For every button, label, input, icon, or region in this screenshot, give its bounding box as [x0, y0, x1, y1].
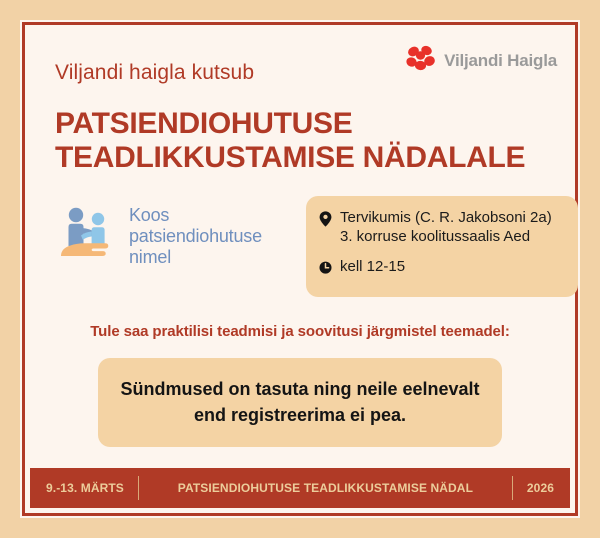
promo-lead-text: Tule saa praktilisi teadmisi ja soovitus…	[41, 323, 559, 340]
campaign-logo-line-2: patsiendiohutuse	[129, 226, 262, 247]
poster-info-band: Koos patsiendiohutuse nimel Tervikumis (…	[41, 196, 559, 297]
campaign-logo-line-3: nimel	[129, 247, 262, 268]
two-figures-on-hand-icon	[59, 204, 121, 269]
event-time: kell 12-15	[319, 258, 562, 282]
poster-title-line-2: TEADLIKKUSTAMISE NÄDALALE	[55, 141, 559, 175]
poster: Viljandi Haigla Viljandi haigla kutsub P…	[0, 0, 600, 538]
promo-note-line-2: end registreerima ei pea.	[118, 402, 482, 428]
poster-card: Viljandi Haigla Viljandi haigla kutsub P…	[22, 22, 578, 516]
promo-note-line-1: Sündmused on tasuta ning neile eelnevalt	[118, 376, 482, 402]
location-pin-icon	[319, 211, 333, 233]
flower-logo-icon	[405, 43, 437, 78]
event-location-line-2: 3. korruse koolitussaalis Aed	[340, 228, 552, 247]
footer-bar: 9.-13. MÄRTS PATSIENDIOHUTUSE TEADLIKKUS…	[30, 468, 570, 508]
campaign-logo: Koos patsiendiohutuse nimel	[41, 196, 262, 269]
footer-year: 2026	[527, 481, 554, 495]
footer-divider-right	[512, 476, 513, 500]
event-time-line-1: kell 12-15	[340, 258, 405, 277]
footer-divider-left	[138, 476, 139, 500]
clock-icon	[319, 260, 333, 282]
event-location-text: Tervikumis (C. R. Jakobsoni 2a) 3. korru…	[340, 209, 552, 247]
footer-dates: 9.-13. MÄRTS	[46, 481, 124, 495]
poster-footer: 9.-13. MÄRTS PATSIENDIOHUTUSE TEADLIKKUS…	[25, 468, 575, 513]
event-location: Tervikumis (C. R. Jakobsoni 2a) 3. korru…	[319, 209, 562, 247]
promo-note-box: Sündmused on tasuta ning neile eelnevalt…	[98, 358, 502, 447]
campaign-logo-line-1: Koos	[129, 205, 262, 226]
hospital-brand: Viljandi Haigla	[405, 43, 557, 78]
poster-title-line-1: PATSIENDIOHUTUSE	[55, 107, 559, 141]
promo-section: Tule saa praktilisi teadmisi ja soovitus…	[41, 323, 559, 447]
poster-title: PATSIENDIOHUTUSE TEADLIKKUSTAMISE NÄDALA…	[55, 107, 559, 174]
campaign-logo-text: Koos patsiendiohutuse nimel	[129, 205, 262, 269]
event-details-box: Tervikumis (C. R. Jakobsoni 2a) 3. korru…	[306, 196, 578, 297]
poster-kicker: Viljandi haigla kutsub	[55, 61, 254, 85]
hospital-brand-name: Viljandi Haigla	[444, 51, 557, 71]
event-location-line-1: Tervikumis (C. R. Jakobsoni 2a)	[340, 209, 552, 228]
event-time-text: kell 12-15	[340, 258, 405, 277]
footer-campaign-name: PATSIENDIOHUTUSE TEADLIKKUSTAMISE NÄDAL	[153, 481, 498, 495]
poster-header: Viljandi Haigla Viljandi haigla kutsub	[41, 41, 559, 85]
